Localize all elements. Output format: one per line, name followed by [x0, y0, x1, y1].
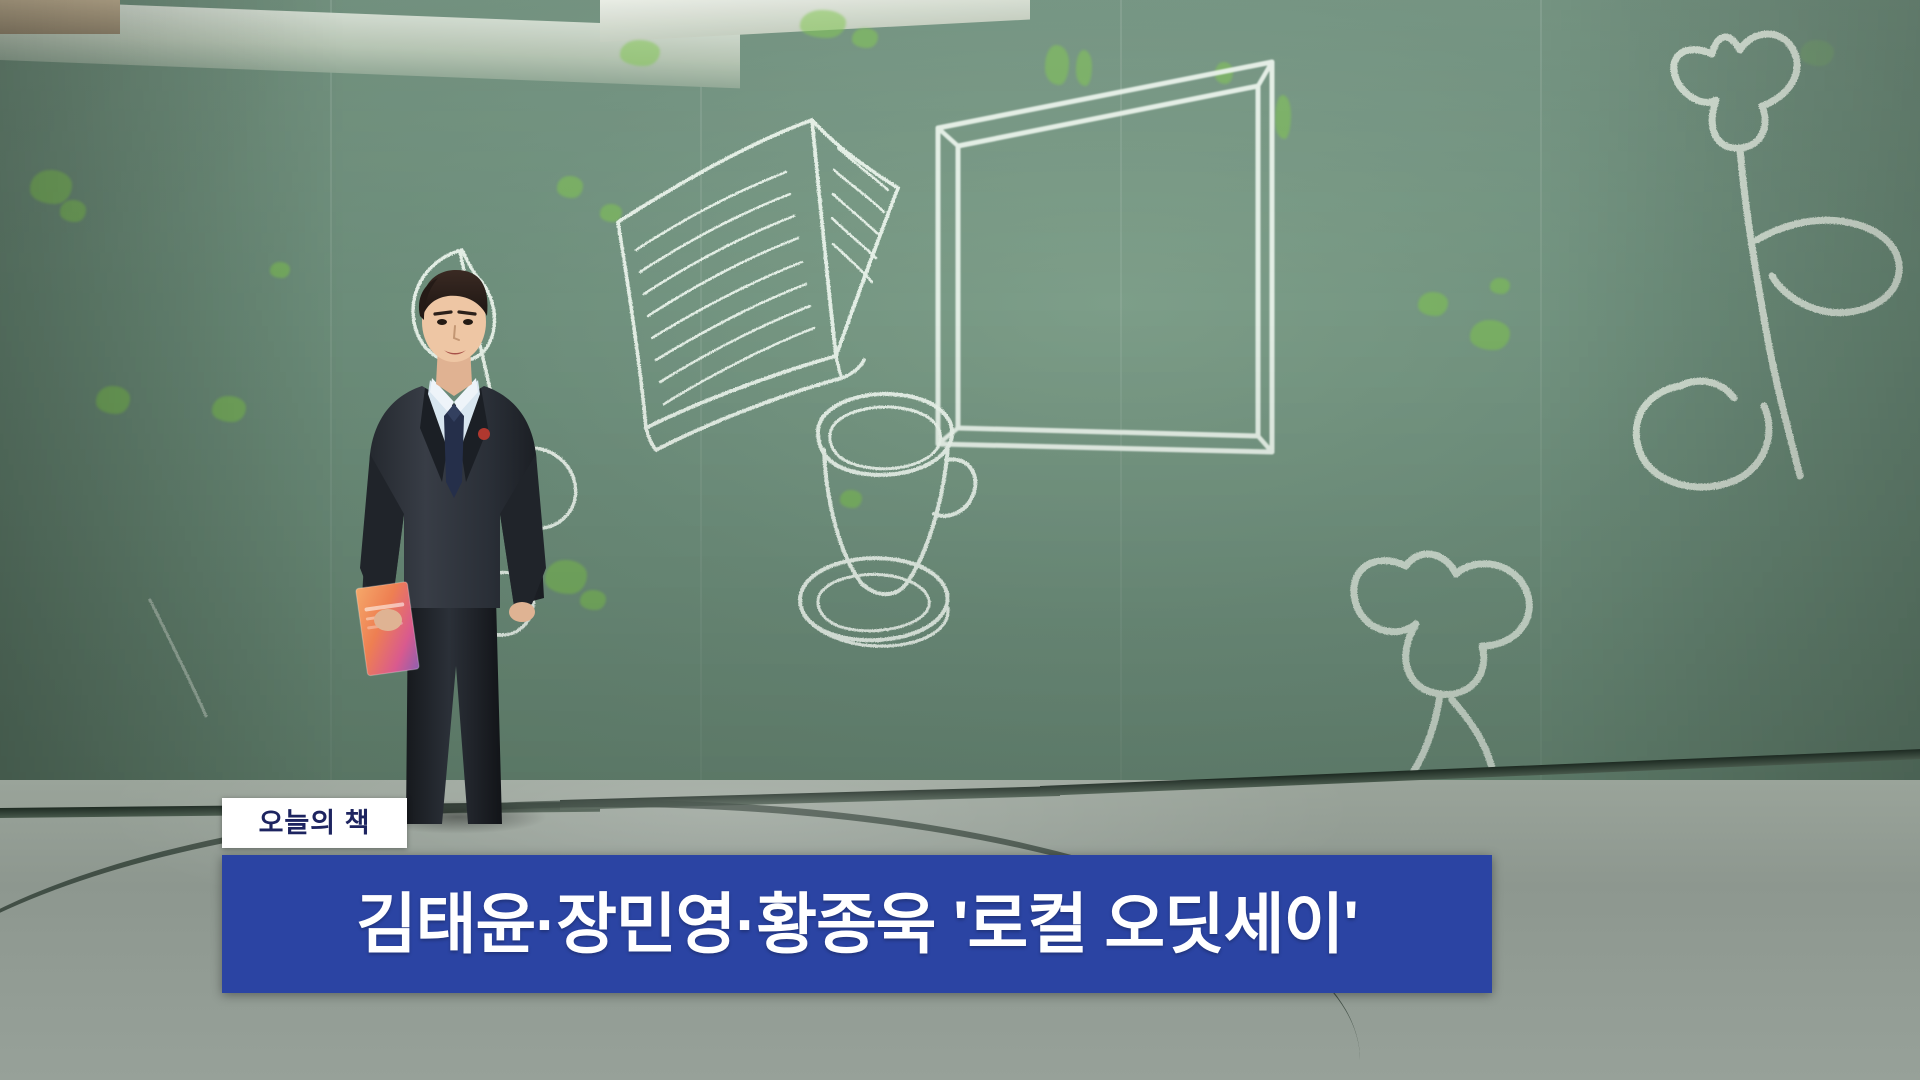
- headline-banner: 김태윤·장민영·황종욱 '로컬 오딧세이': [222, 855, 1492, 993]
- headline-text: 김태윤·장민영·황종욱 '로컬 오딧세이': [356, 891, 1358, 957]
- segment-category-badge: 오늘의 책: [222, 798, 407, 848]
- segment-category-label: 오늘의 책: [259, 810, 371, 837]
- broadcast-frame: 오늘의 책 김태윤·장민영·황종욱 '로컬 오딧세이': [0, 0, 1920, 1080]
- news-anchor: [330, 268, 590, 828]
